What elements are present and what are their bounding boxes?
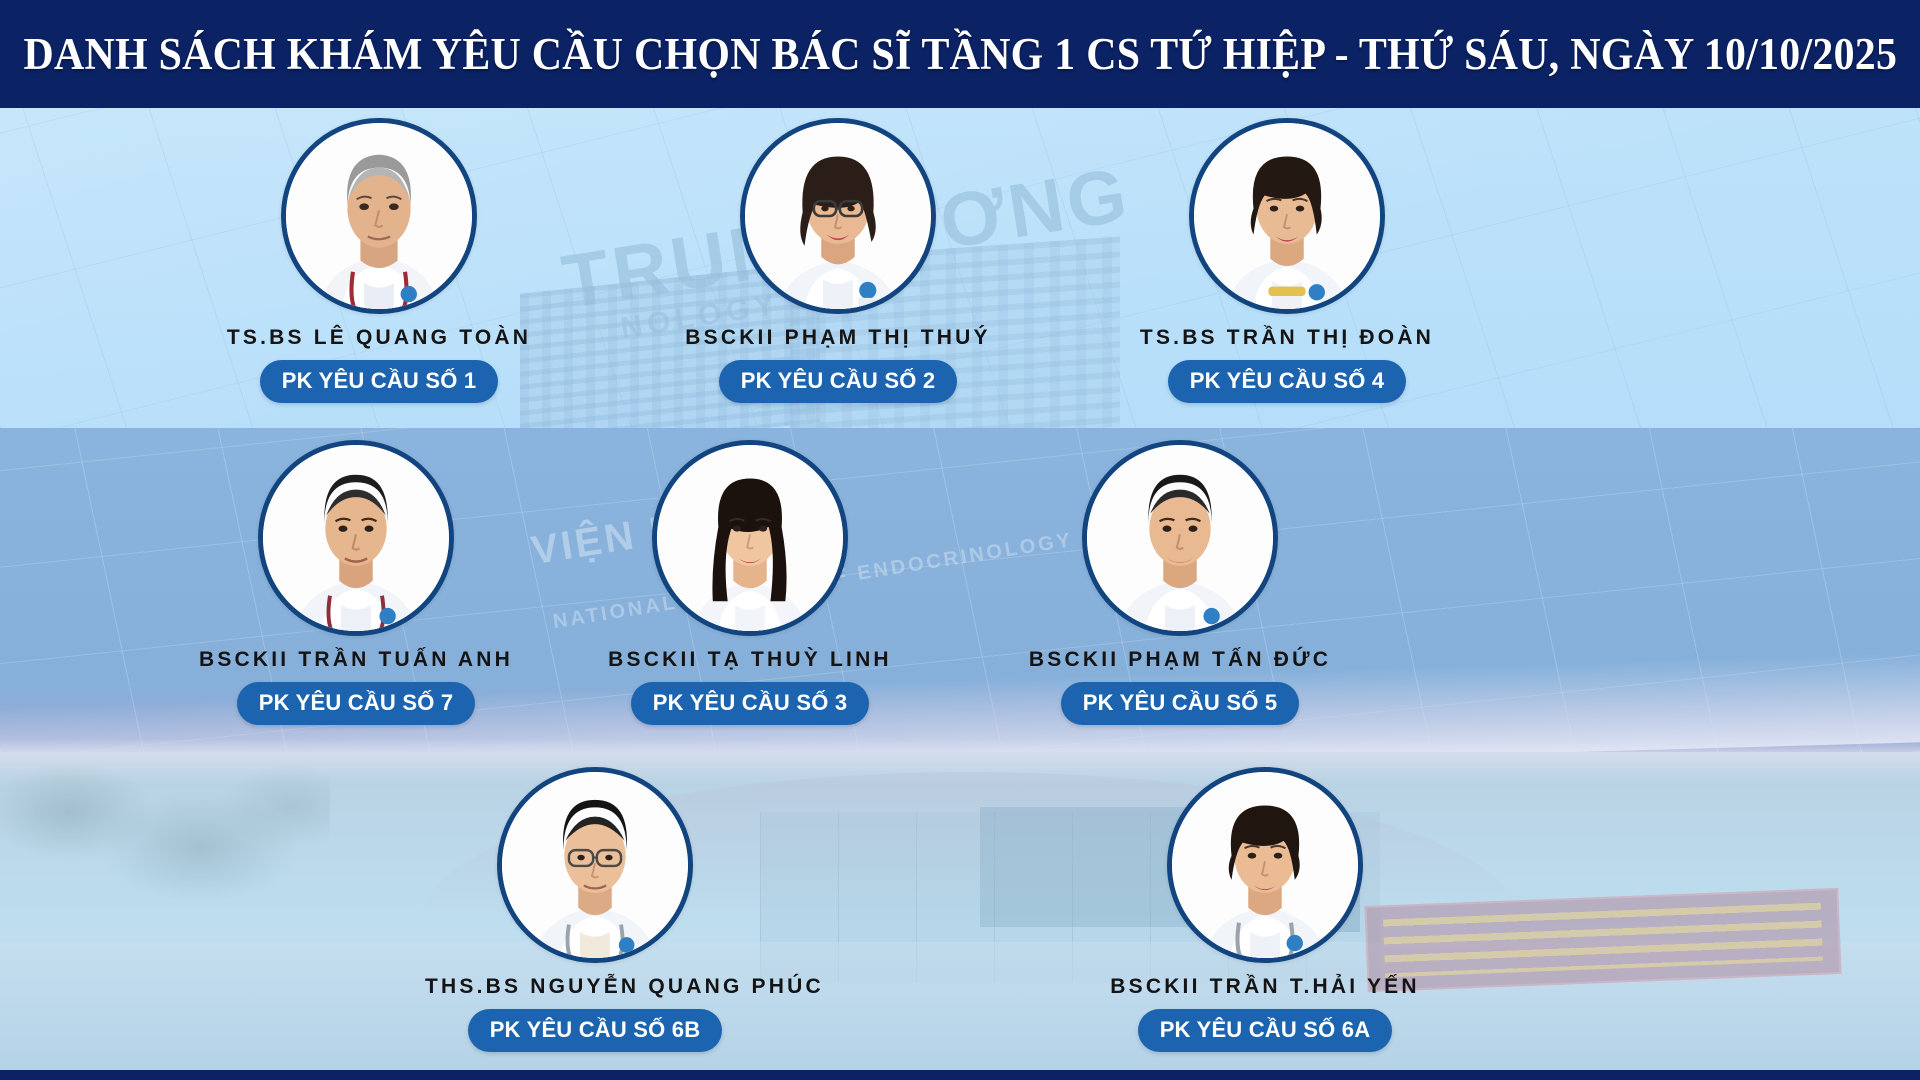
doctor-name: BSCKII PHẠM THỊ THUÝ: [668, 326, 1008, 350]
doctor-card[interactable]: TS.BS LÊ QUANG TOÀN PK YÊU CẦU SỐ 1: [209, 118, 549, 403]
avatar: [652, 440, 848, 636]
doctor-name: BSCKII PHẠM TẤN ĐỨC: [1010, 648, 1350, 672]
portrait-le-quang-toan: [286, 123, 472, 309]
avatar: [740, 118, 936, 314]
room-badge[interactable]: PK YÊU CẦU SỐ 3: [631, 682, 870, 725]
background-band-row3: [0, 752, 1920, 1070]
page-title: DANH SÁCH KHÁM YÊU CẦU CHỌN BÁC SĨ TẦNG …: [10, 28, 1910, 80]
portrait-pham-thi-thuy: [745, 123, 931, 309]
doctor-name: THS.BS NGUYỄN QUANG PHÚC: [425, 975, 765, 999]
avatar: [1167, 767, 1363, 963]
doctor-card[interactable]: THS.BS NGUYỄN QUANG PHÚC PK YÊU CẦU SỐ 6…: [425, 767, 765, 1052]
doctor-name: BSCKII TRẦN TUẤN ANH: [186, 648, 526, 672]
portrait-nguyen-quang-phuc: [502, 772, 688, 958]
title-bar: DANH SÁCH KHÁM YÊU CẦU CHỌN BÁC SĨ TẦNG …: [0, 0, 1920, 108]
band3-floor: [0, 942, 1920, 1070]
portrait-tran-tuan-anh: [263, 445, 449, 631]
doctor-name: BSCKII TẠ THUỲ LINH: [580, 648, 920, 672]
band3-foliage: [0, 752, 330, 982]
bottom-bar: [0, 1070, 1920, 1080]
room-badge[interactable]: PK YÊU CẦU SỐ 6B: [468, 1009, 723, 1052]
poster-root: TRUNG ƯƠNG NOLOGY VIỆN NỘI TIẾT NATIONAL…: [0, 0, 1920, 1080]
portrait-tran-thi-doan: [1194, 123, 1380, 309]
doctor-card[interactable]: BSCKII TRẦN T.HẢI YẾN PK YÊU CẦU SỐ 6A: [1095, 767, 1435, 1052]
room-badge[interactable]: PK YÊU CẦU SỐ 5: [1061, 682, 1300, 725]
doctor-name: TS.BS LÊ QUANG TOÀN: [209, 326, 549, 350]
avatar: [1189, 118, 1385, 314]
doctor-name: BSCKII TRẦN T.HẢI YẾN: [1095, 975, 1435, 999]
portrait-tran-t-hai-yen: [1172, 772, 1358, 958]
doctor-card[interactable]: BSCKII TẠ THUỲ LINH PK YÊU CẦU SỐ 3: [580, 440, 920, 725]
avatar: [497, 767, 693, 963]
portrait-ta-thuy-linh: [657, 445, 843, 631]
doctor-card[interactable]: BSCKII PHẠM THỊ THUÝ PK YÊU CẦU SỐ 2: [668, 118, 1008, 403]
avatar: [1082, 440, 1278, 636]
doctor-card[interactable]: BSCKII PHẠM TẤN ĐỨC PK YÊU CẦU SỐ 5: [1010, 440, 1350, 725]
room-badge[interactable]: PK YÊU CẦU SỐ 1: [260, 360, 499, 403]
doctor-card[interactable]: TS.BS TRẦN THỊ ĐOÀN PK YÊU CẦU SỐ 4: [1117, 118, 1457, 403]
room-badge[interactable]: PK YÊU CẦU SỐ 7: [237, 682, 476, 725]
portrait-pham-tan-duc: [1087, 445, 1273, 631]
avatar: [281, 118, 477, 314]
avatar: [258, 440, 454, 636]
doctor-card[interactable]: BSCKII TRẦN TUẤN ANH PK YÊU CẦU SỐ 7: [186, 440, 526, 725]
room-badge[interactable]: PK YÊU CẦU SỐ 4: [1168, 360, 1407, 403]
band3-red-banner: [1365, 888, 1842, 992]
room-badge[interactable]: PK YÊU CẦU SỐ 6A: [1138, 1009, 1393, 1052]
room-badge[interactable]: PK YÊU CẦU SỐ 2: [719, 360, 958, 403]
doctor-name: TS.BS TRẦN THỊ ĐOÀN: [1117, 326, 1457, 350]
